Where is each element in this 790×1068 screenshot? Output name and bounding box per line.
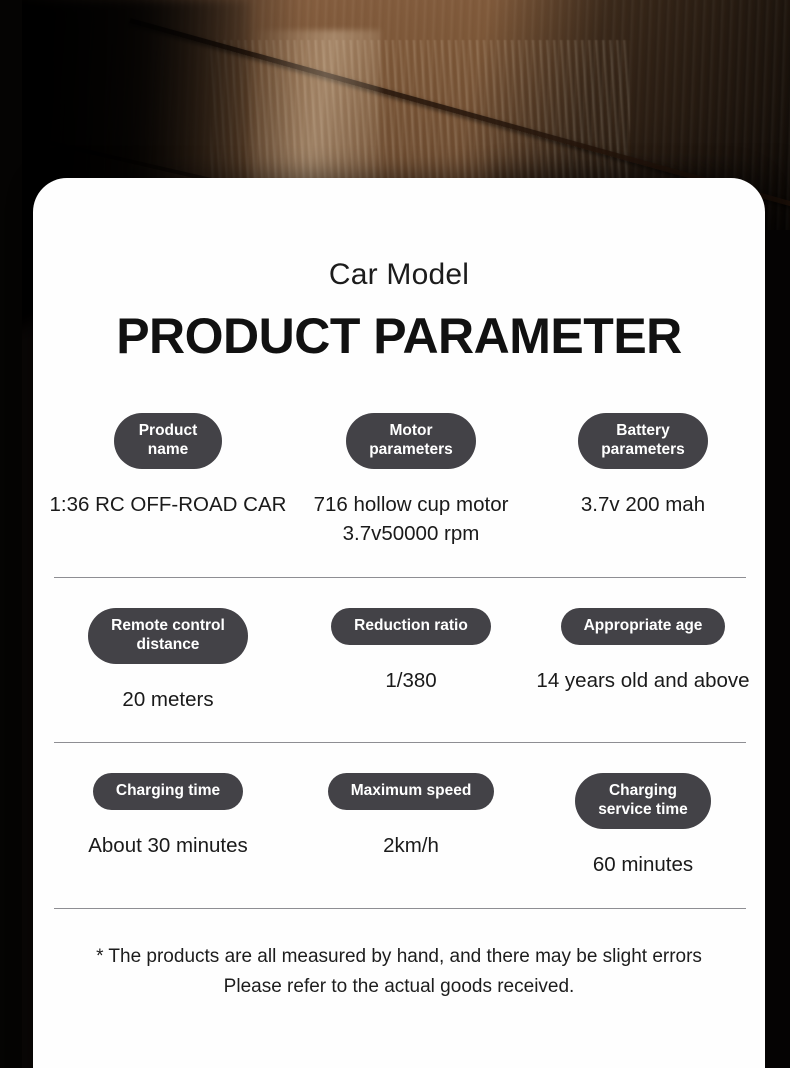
parameter-value: 60 minutes	[593, 850, 693, 880]
parameter-value: 716 hollow cup motor 3.7v50000 rpm	[314, 490, 509, 549]
card-subtitle: Car Model	[33, 260, 765, 290]
parameter-cell-motor-parameters: Motor parameters 716 hollow cup motor 3.…	[291, 413, 531, 549]
parameter-value: 2km/h	[383, 831, 439, 861]
parameter-cell-product-name: Product name 1:36 RC OFF-ROAD CAR	[45, 413, 291, 519]
parameter-cell-reduction-ratio: Reduction ratio 1/380	[291, 608, 531, 695]
parameter-cell-remote-control-distance: Remote control distance 20 meters	[45, 608, 291, 714]
product-parameter-card: Car Model PRODUCT PARAMETER Product name…	[33, 178, 765, 1068]
parameter-cell-charging-time: Charging time About 30 minutes	[45, 773, 291, 860]
parameter-label-pill: Remote control distance	[88, 608, 248, 664]
parameter-row-3: Charging time About 30 minutes Maximum s…	[45, 743, 755, 907]
left-dark-border	[0, 0, 22, 1068]
row-divider-3	[54, 908, 746, 909]
right-dark-border	[766, 230, 790, 1068]
parameter-value: 3.7v 200 mah	[581, 490, 705, 520]
parameter-value: 1:36 RC OFF-ROAD CAR	[50, 490, 287, 520]
parameter-label-pill: Maximum speed	[328, 773, 495, 810]
parameter-cell-charging-service-time: Charging service time 60 minutes	[531, 773, 755, 879]
parameter-label-pill: Charging service time	[575, 773, 711, 829]
product-parameter-screenshot: Car Model PRODUCT PARAMETER Product name…	[0, 0, 790, 1068]
parameter-value: 20 meters	[122, 685, 213, 715]
parameter-value: 14 years old and above	[536, 666, 749, 696]
parameter-value: 1/380	[385, 666, 436, 696]
disclaimer-line-1: * The products are all measured by hand,…	[53, 942, 745, 973]
parameter-cell-maximum-speed: Maximum speed 2km/h	[291, 773, 531, 860]
parameter-row-1: Product name 1:36 RC OFF-ROAD CAR Motor …	[45, 413, 755, 577]
parameter-label-pill: Battery parameters	[578, 413, 708, 469]
parameter-label-pill: Appropriate age	[561, 608, 726, 645]
parameter-row-2: Remote control distance 20 meters Reduct…	[45, 578, 755, 742]
disclaimer-line-2: Please refer to the actual goods receive…	[53, 972, 745, 1003]
parameter-label-pill: Charging time	[93, 773, 243, 810]
parameter-label-pill: Product name	[114, 413, 222, 469]
parameter-table: Product name 1:36 RC OFF-ROAD CAR Motor …	[33, 413, 765, 909]
page-title: PRODUCT PARAMETER	[33, 311, 765, 361]
disclaimer-note: * The products are all measured by hand,…	[33, 942, 765, 1004]
parameter-cell-appropriate-age: Appropriate age 14 years old and above	[531, 608, 755, 695]
parameter-label-pill: Motor parameters	[346, 413, 476, 469]
card-header: Car Model PRODUCT PARAMETER	[33, 178, 765, 361]
parameter-cell-battery-parameters: Battery parameters 3.7v 200 mah	[531, 413, 755, 519]
parameter-label-pill: Reduction ratio	[331, 608, 491, 645]
parameter-value: About 30 minutes	[88, 831, 248, 861]
